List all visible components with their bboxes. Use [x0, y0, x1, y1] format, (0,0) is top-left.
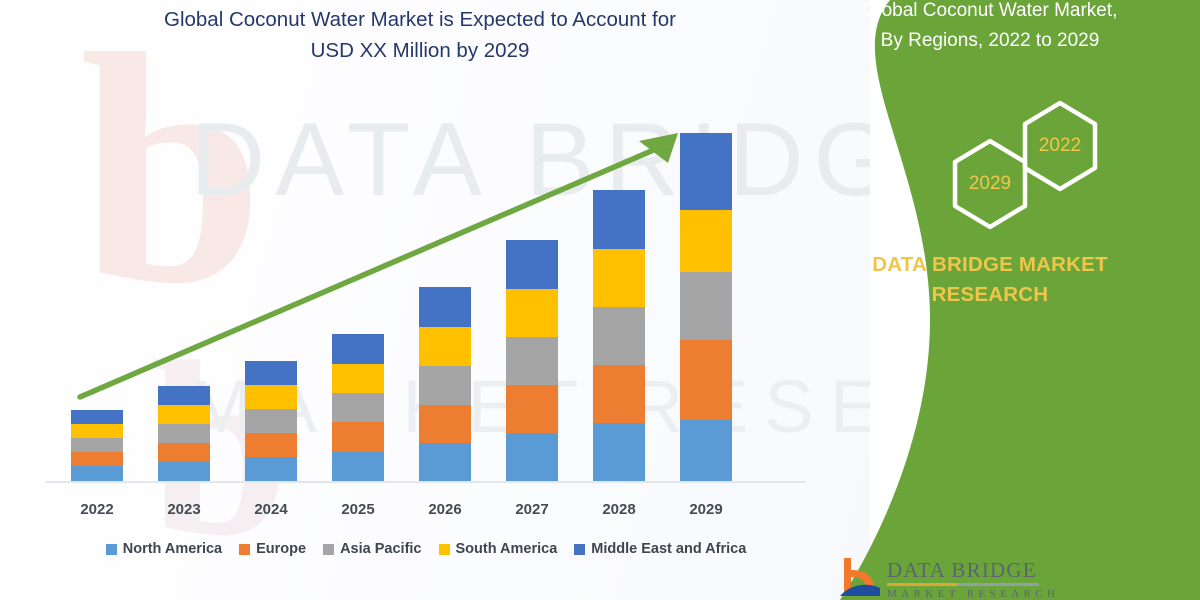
bar-2022[interactable]: [71, 410, 123, 481]
legend-item-asia-pacific[interactable]: Asia Pacific: [323, 541, 421, 557]
legend-swatch-icon: [239, 544, 250, 555]
bar-segment: [680, 340, 732, 420]
x-axis-label-2025: 2025: [313, 501, 403, 518]
bar-segment: [506, 289, 558, 337]
bar-segment: [593, 190, 645, 249]
bar-segment: [71, 466, 123, 481]
bar-segment: [71, 452, 123, 466]
legend-item-north-america[interactable]: North America: [106, 541, 222, 557]
hexagon-group: 2022 2029: [920, 100, 1140, 230]
legend-item-europe[interactable]: Europe: [239, 541, 306, 557]
bar-segment: [71, 410, 123, 424]
bar-segment: [158, 386, 210, 405]
brand-name-line2: RESEARCH: [800, 280, 1180, 310]
legend-label: Europe: [256, 541, 306, 557]
bar-segment: [158, 462, 210, 481]
bar-2028[interactable]: [593, 190, 645, 481]
legend-label: Middle East and Africa: [591, 541, 746, 557]
logo-mark-icon: [840, 556, 880, 600]
x-axis-label-2023: 2023: [139, 501, 229, 518]
logo-name: DATA BRIDGE: [887, 560, 1059, 581]
infographic-canvas: b b DATA BRIDGE MARKET RESEARCH Global C…: [0, 0, 1200, 600]
logo-tagline: MARKET RESEARCH: [887, 588, 1059, 600]
legend-label: Asia Pacific: [340, 541, 421, 557]
bar-2023[interactable]: [158, 386, 210, 481]
bar-2026[interactable]: [419, 287, 471, 481]
x-axis-line: [46, 481, 806, 483]
logo-divider: [887, 583, 1039, 586]
brand-panel-title-line2: By Regions, 2022 to 2029: [790, 26, 1190, 56]
legend-label: South America: [456, 541, 558, 557]
plot-area: 20222023202420252026202720282029: [0, 0, 870, 600]
bar-segment: [332, 422, 384, 452]
bar-segment: [332, 452, 384, 481]
chart-panel: b b DATA BRIDGE MARKET RESEARCH Global C…: [0, 0, 870, 600]
bar-segment: [332, 334, 384, 364]
hexagon-2029: 2029: [950, 138, 1030, 230]
bar-segment: [506, 433, 558, 481]
bar-2024[interactable]: [245, 361, 297, 481]
brand-panel-title-line1: Global Coconut Water Market,: [790, 0, 1190, 26]
bar-2025[interactable]: [332, 334, 384, 481]
x-axis-label-2027: 2027: [487, 501, 577, 518]
bar-segment: [680, 420, 732, 481]
bar-segment: [245, 361, 297, 385]
x-axis-label-2022: 2022: [52, 501, 142, 518]
bar-segment: [71, 424, 123, 438]
bar-segment: [332, 364, 384, 393]
legend-item-middle-east-and-africa[interactable]: Middle East and Africa: [574, 541, 746, 557]
legend-swatch-icon: [106, 544, 117, 555]
bar-segment: [245, 457, 297, 481]
bar-segment: [158, 443, 210, 462]
bar-segment: [245, 433, 297, 457]
bar-segment: [680, 272, 732, 340]
brand-panel-title: Global Coconut Water Market, By Regions,…: [790, 0, 1190, 56]
bar-segment: [419, 287, 471, 327]
legend-swatch-icon: [574, 544, 585, 555]
hexagon-2029-label: 2029: [950, 138, 1030, 230]
bar-segment: [245, 409, 297, 433]
bar-2029[interactable]: [680, 133, 732, 481]
bar-segment: [245, 385, 297, 409]
bar-segment: [593, 365, 645, 423]
legend-swatch-icon: [439, 544, 450, 555]
bar-segment: [593, 307, 645, 365]
bar-segment: [593, 423, 645, 481]
hexagon-2022-label: 2022: [1020, 100, 1100, 192]
bar-segment: [158, 405, 210, 424]
bar-2027[interactable]: [506, 240, 558, 481]
x-axis-label-2029: 2029: [661, 501, 751, 518]
bar-segment: [419, 327, 471, 366]
bar-segment: [71, 438, 123, 452]
brand-name: DATA BRIDGE MARKET RESEARCH: [800, 250, 1180, 310]
x-axis-label-2024: 2024: [226, 501, 316, 518]
company-logo: DATA BRIDGE MARKET RESEARCH: [840, 556, 1059, 600]
x-axis-label-2028: 2028: [574, 501, 664, 518]
bar-segment: [419, 443, 471, 481]
bar-segment: [680, 133, 732, 210]
bar-segment: [506, 385, 558, 433]
brand-name-line1: DATA BRIDGE MARKET: [800, 250, 1180, 280]
bar-segment: [158, 424, 210, 443]
bar-segment: [506, 337, 558, 385]
bar-segment: [506, 240, 558, 289]
legend-swatch-icon: [323, 544, 334, 555]
bar-segment: [680, 210, 732, 272]
bar-segment: [419, 366, 471, 405]
legend-label: North America: [123, 541, 222, 557]
logo-text: DATA BRIDGE MARKET RESEARCH: [887, 556, 1059, 600]
bar-segment: [332, 393, 384, 422]
x-axis-label-2026: 2026: [400, 501, 490, 518]
bar-segment: [593, 249, 645, 307]
chart-legend: North AmericaEuropeAsia PacificSouth Ame…: [46, 541, 806, 557]
hexagon-2022: 2022: [1020, 100, 1100, 192]
bar-segment: [419, 405, 471, 443]
legend-item-south-america[interactable]: South America: [439, 541, 558, 557]
